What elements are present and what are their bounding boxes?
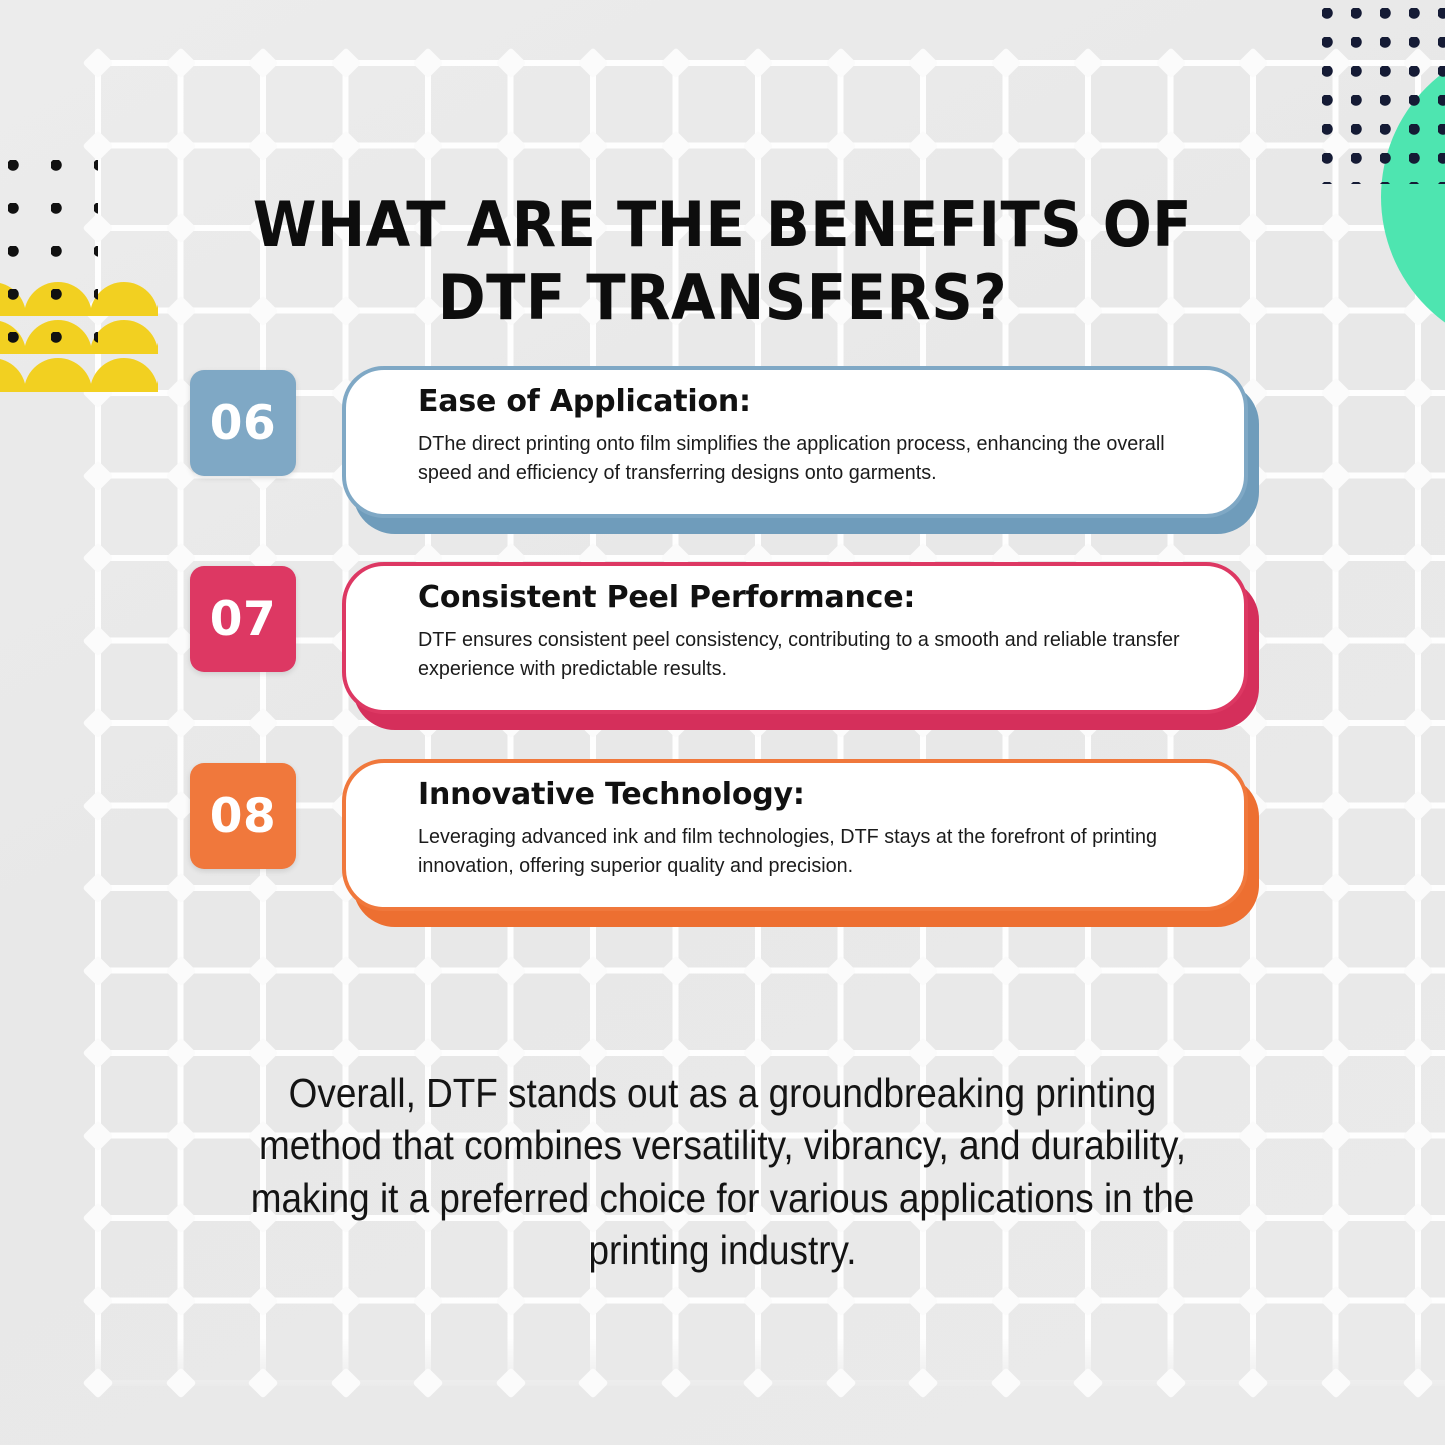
card-heading: Innovative Technology: [418, 777, 1208, 812]
card-description: DThe direct printing onto film simplifie… [418, 429, 1180, 487]
benefit-card[interactable]: Consistent Peel Performance: DTF ensures… [342, 562, 1248, 714]
card-body: Innovative Technology: Leveraging advanc… [418, 777, 1208, 880]
benefit-card-row: 08 Innovative Technology: Leveraging adv… [190, 759, 1265, 929]
closing-paragraph: Overall, DTF stands out as a groundbreak… [230, 1067, 1216, 1277]
card-description: Leveraging advanced ink and film technol… [418, 822, 1180, 880]
dot-grid-left [8, 160, 98, 366]
benefit-card-row: 07 Consistent Peel Performance: DTF ensu… [190, 562, 1265, 732]
card-body: Ease of Application: DThe direct printin… [418, 384, 1208, 487]
badge-number: 08 [190, 763, 296, 869]
dot-grid-top-right [1322, 8, 1445, 184]
card-body: Consistent Peel Performance: DTF ensures… [418, 580, 1208, 683]
page-title: WHAT ARE THE BENEFITS OF DTF TRANSFERS? [218, 188, 1227, 334]
benefit-card[interactable]: Innovative Technology: Leveraging advanc… [342, 759, 1248, 911]
benefit-card-row: 06 Ease of Application: DThe direct prin… [190, 366, 1265, 536]
card-heading: Ease of Application: [418, 384, 1208, 419]
card-description: DTF ensures consistent peel consistency,… [418, 625, 1180, 683]
card-heading: Consistent Peel Performance: [418, 580, 1208, 615]
badge-number: 07 [190, 566, 296, 672]
benefit-card[interactable]: Ease of Application: DThe direct printin… [342, 366, 1248, 518]
infographic-poster: WHAT ARE THE BENEFITS OF DTF TRANSFERS? … [0, 0, 1445, 1445]
badge-number: 06 [190, 370, 296, 476]
